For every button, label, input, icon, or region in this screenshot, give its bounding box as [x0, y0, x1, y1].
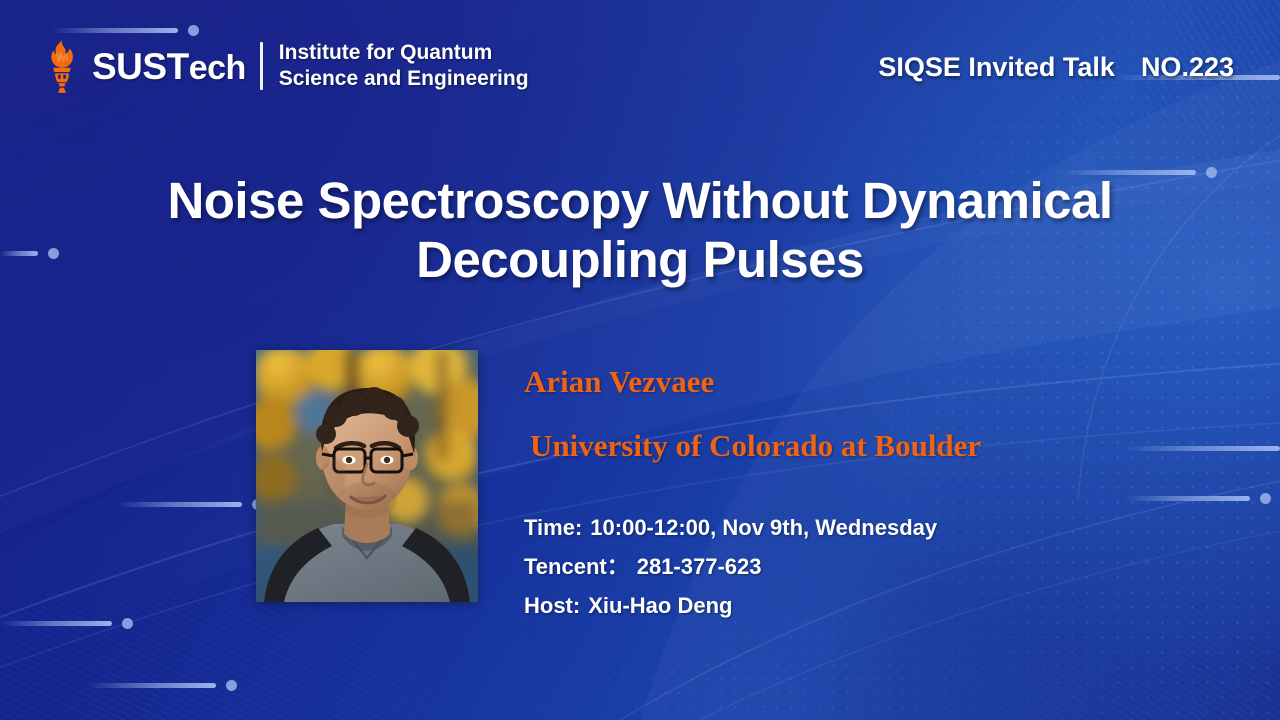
- torch-flame-icon: [42, 38, 82, 94]
- talk-detail-label: Time:: [524, 515, 582, 540]
- poster-header: SUSTech Institute for Quantum Science an…: [0, 0, 1280, 128]
- talk-detail-value: 10:00-12:00, Nov 9th, Wednesday: [590, 515, 937, 540]
- decorative-line-bar: [116, 502, 242, 507]
- sustech-wordmark-tail: ech: [189, 49, 246, 87]
- sustech-wordmark: SUSTech: [92, 48, 246, 85]
- decorative-line-dot: [1260, 493, 1271, 504]
- talk-details-list: Time:10:00-12:00, Nov 9th, WednesdayTenc…: [524, 517, 1224, 617]
- decorative-line-bar: [0, 251, 38, 256]
- talk-detail-row: Host:Xiu-Hao Deng: [524, 595, 1224, 617]
- decorative-line: [0, 251, 38, 256]
- decorative-line: [88, 683, 216, 688]
- decorative-line-dot: [48, 248, 59, 259]
- decorative-line: [116, 502, 242, 507]
- talk-detail-row: Time:10:00-12:00, Nov 9th, Wednesday: [524, 517, 1224, 539]
- talk-title: Noise Spectroscopy Without Dynamical Dec…: [60, 172, 1220, 289]
- decorative-line-bar: [0, 621, 112, 626]
- decorative-line-dot: [122, 618, 133, 629]
- decorative-line-bar: [88, 683, 216, 688]
- speaker-portrait: [256, 350, 478, 602]
- talk-poster: SUSTech Institute for Quantum Science an…: [0, 0, 1280, 720]
- institute-name-line1: Institute for Quantum: [279, 40, 529, 66]
- speaker-name: Arian Vezvaee: [524, 366, 1224, 397]
- sustech-wordmark-main: SUST: [92, 46, 189, 87]
- talk-detail-label: Tencent：: [524, 554, 629, 579]
- institute-name-line2: Science and Engineering: [279, 66, 529, 92]
- talk-series-meta: SIQSE Invited TalkNO.223: [878, 52, 1234, 83]
- talk-detail-label: Host:: [524, 593, 580, 618]
- sustech-logo[interactable]: SUSTech Institute for Quantum Science an…: [42, 38, 529, 94]
- talk-series-label: SIQSE Invited Talk: [878, 52, 1115, 82]
- talk-detail-value: Xiu-Hao Deng: [588, 593, 732, 618]
- logo-divider: [260, 42, 263, 90]
- talk-detail-value: 281-377-623: [637, 554, 762, 579]
- decorative-line-dot: [226, 680, 237, 691]
- speaker-affiliation: University of Colorado at Boulder: [530, 430, 1224, 461]
- decorative-line: [0, 621, 112, 626]
- talk-number: NO.223: [1141, 52, 1234, 82]
- talk-info: Arian Vezvaee University of Colorado at …: [524, 366, 1224, 634]
- talk-detail-row: Tencent：281-377-623: [524, 556, 1224, 578]
- institute-name: Institute for Quantum Science and Engine…: [279, 40, 529, 91]
